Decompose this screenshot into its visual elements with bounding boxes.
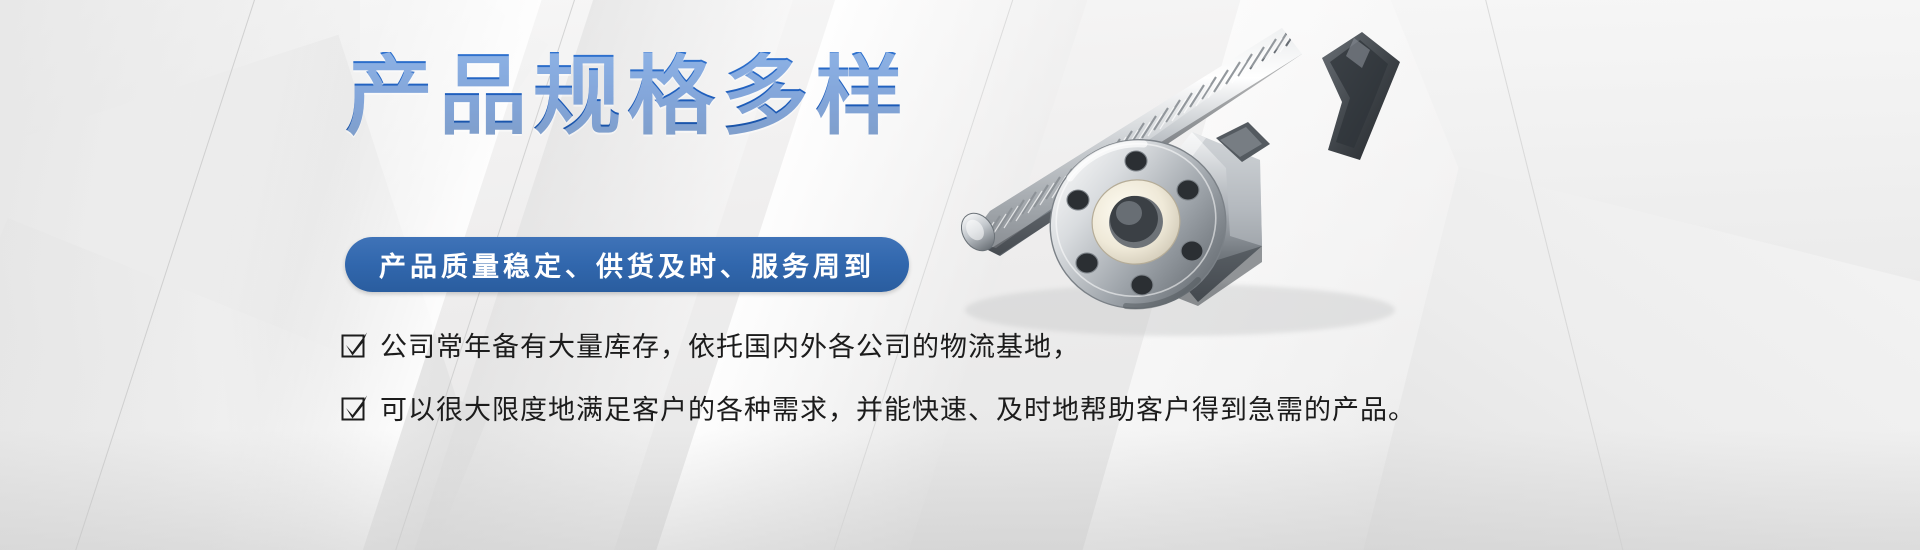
- page-title: 产品规格多样: [345, 52, 909, 140]
- banner-content: 产品规格多样 产品质量稳定、供货及时、服务周到 公司常年备有大量库存，依托国内外…: [0, 0, 1920, 550]
- list-item: 公司常年备有大量库存，依托国内外各公司的物流基地，: [340, 325, 1416, 364]
- checkbox-check-icon: [340, 394, 368, 422]
- checkbox-check-icon: [340, 331, 368, 359]
- tagline-text: 产品质量稳定、供货及时、服务周到: [379, 245, 875, 284]
- list-item-label: 公司常年备有大量库存，依托国内外各公司的物流基地，: [380, 325, 1080, 364]
- feature-list: 公司常年备有大量库存，依托国内外各公司的物流基地， 可以很大限度地满足客户的各种…: [340, 325, 1416, 451]
- promo-banner: 产品规格多样 产品质量稳定、供货及时、服务周到 公司常年备有大量库存，依托国内外…: [0, 0, 1920, 550]
- tagline-pill: 产品质量稳定、供货及时、服务周到: [345, 237, 909, 292]
- list-item-label: 可以很大限度地满足客户的各种需求，并能快速、及时地帮助客户得到急需的产品。: [380, 388, 1416, 427]
- list-item: 可以很大限度地满足客户的各种需求，并能快速、及时地帮助客户得到急需的产品。: [340, 388, 1416, 427]
